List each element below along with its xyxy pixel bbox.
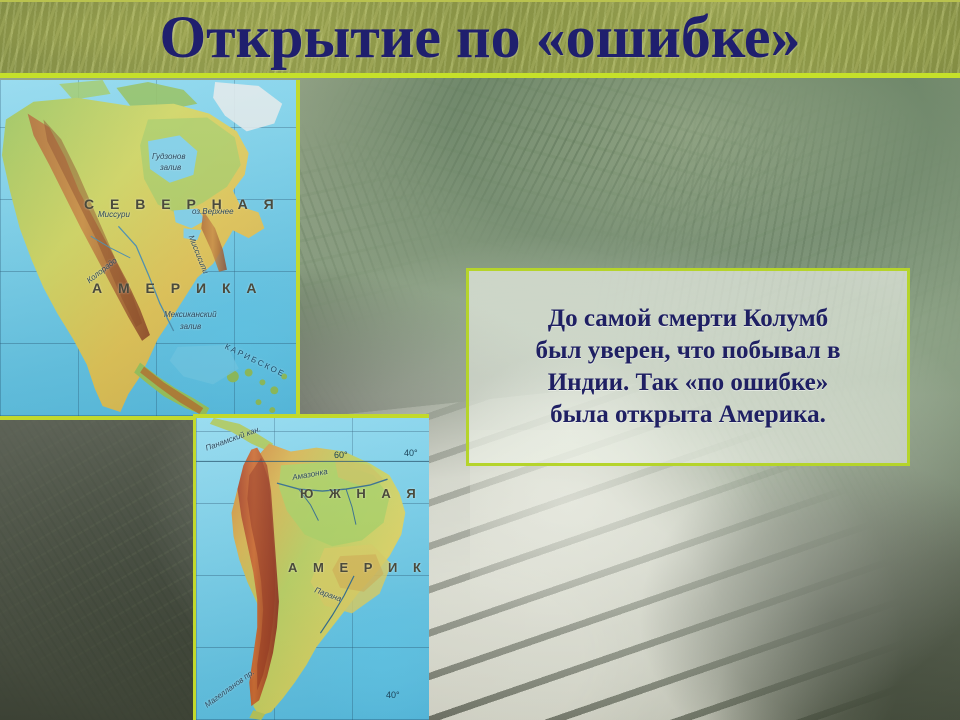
- quote-line: был уверен, что побывал в: [535, 335, 840, 367]
- quote-textbox: До самой смерти Колумб был уверен, что п…: [466, 268, 910, 466]
- quote-line: Индии. Так «по ошибке»: [535, 367, 840, 399]
- north-america-landmass: [0, 80, 296, 416]
- page-title: Открытие по «ошибке»: [0, 6, 960, 66]
- title-banner: Открытие по «ошибке»: [0, 0, 960, 78]
- south-america-landmass: [196, 418, 429, 720]
- map-north-america: С Е В Е Р Н А Я А М Е Р И К А Гудзонов з…: [0, 80, 300, 420]
- slide: С Е В Е Р Н А Я А М Е Р И К А Гудзонов з…: [0, 0, 960, 720]
- quote-line: До самой смерти Колумб: [535, 303, 840, 335]
- map-south-america: Ю Ж Н А Я А М Е Р И К А Амазонка Парана …: [193, 414, 429, 720]
- quote-line: была открыта Америка.: [535, 399, 840, 431]
- quote-text: До самой смерти Колумб был уверен, что п…: [535, 303, 840, 431]
